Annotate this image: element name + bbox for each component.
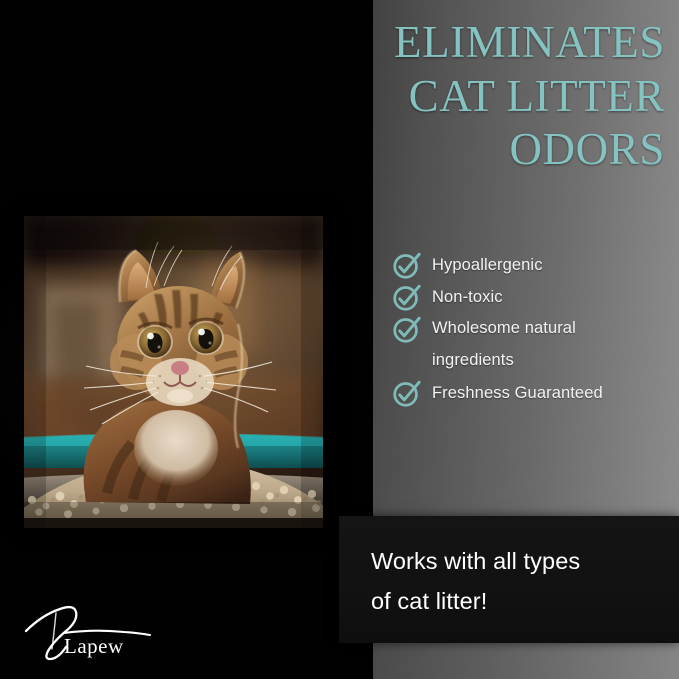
list-item: Wholesome natural <box>392 314 674 344</box>
brand-name: Lapew <box>64 634 124 658</box>
ad-creative: ELIMINATES CAT LITTER ODORS <box>0 0 679 679</box>
list-item: Non-toxic <box>392 282 674 312</box>
headline-line-3: ODORS <box>267 123 665 177</box>
feature-label: Hypoallergenic <box>432 250 543 280</box>
callout-text: Works with all types of cat litter! <box>371 541 661 621</box>
brand-logo: Lapew <box>20 593 170 665</box>
headline-line-1: ELIMINATES <box>267 16 665 70</box>
callout-box: Works with all types of cat litter! <box>339 516 679 643</box>
headline-line-2: CAT LITTER <box>267 70 665 124</box>
check-circle-icon <box>392 315 421 344</box>
feature-label: Wholesome natural <box>432 314 576 343</box>
check-circle-icon <box>392 283 421 312</box>
callout-line-2: of cat litter! <box>371 581 661 621</box>
feature-label: Non-toxic <box>432 282 503 312</box>
feature-benefits-list: Hypoallergenic Non-toxic Wholesome natur… <box>392 250 674 410</box>
check-circle-icon <box>392 251 421 280</box>
list-item: Hypoallergenic <box>392 250 674 280</box>
check-circle-icon <box>392 379 421 408</box>
headline: ELIMINATES CAT LITTER ODORS <box>267 16 665 177</box>
list-item-continuation: ingredients <box>392 346 674 376</box>
list-item: Freshness Guaranteed <box>392 378 674 408</box>
feature-label-continued: ingredients <box>432 346 514 375</box>
check-icon-spacer <box>392 347 421 376</box>
feature-label: Freshness Guaranteed <box>432 378 603 408</box>
callout-line-1: Works with all types <box>371 541 661 581</box>
product-photo <box>24 216 323 528</box>
kitten-in-litter-box-illustration <box>24 216 323 528</box>
